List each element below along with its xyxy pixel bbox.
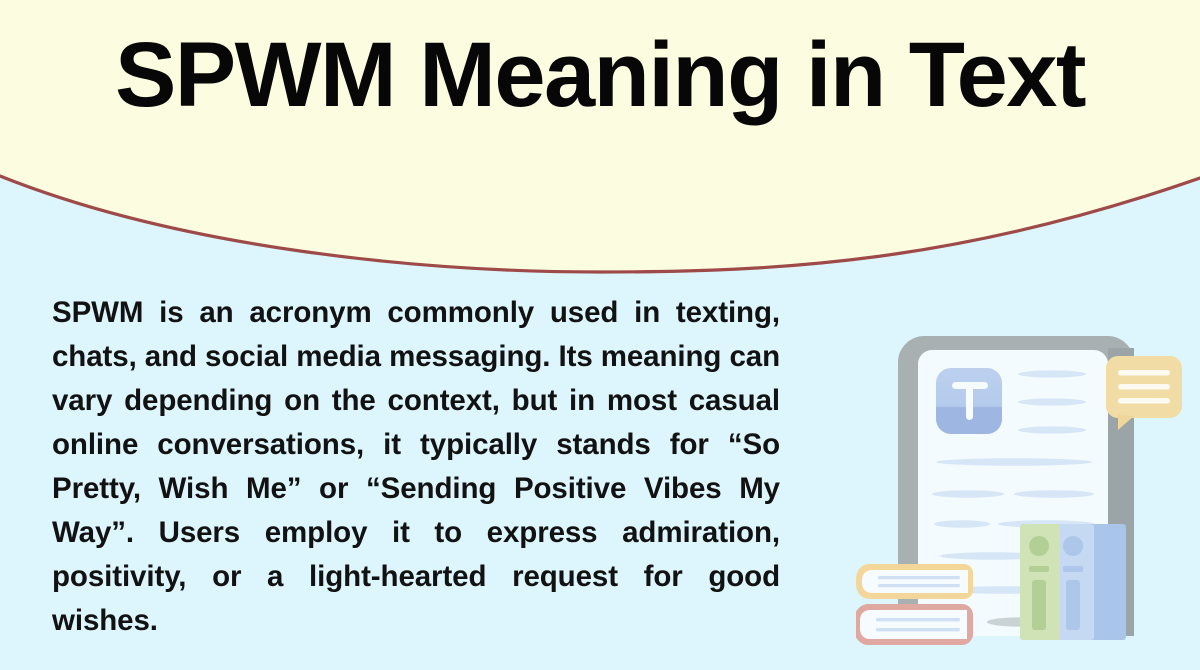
document-tablet-with-books-illustration: [856, 318, 1200, 670]
binder-shelf: [1020, 524, 1126, 640]
page-title: SPWM Meaning in Text: [0, 26, 1200, 125]
header-divider-curve: [0, 176, 1200, 272]
infographic-canvas: SPWM Meaning in Text SPWM is an acronym …: [0, 0, 1200, 670]
text-badge-icon: [936, 368, 1002, 434]
body-paragraph: SPWM is an acronym commonly used in text…: [52, 291, 780, 670]
stacked-books: [856, 564, 973, 645]
